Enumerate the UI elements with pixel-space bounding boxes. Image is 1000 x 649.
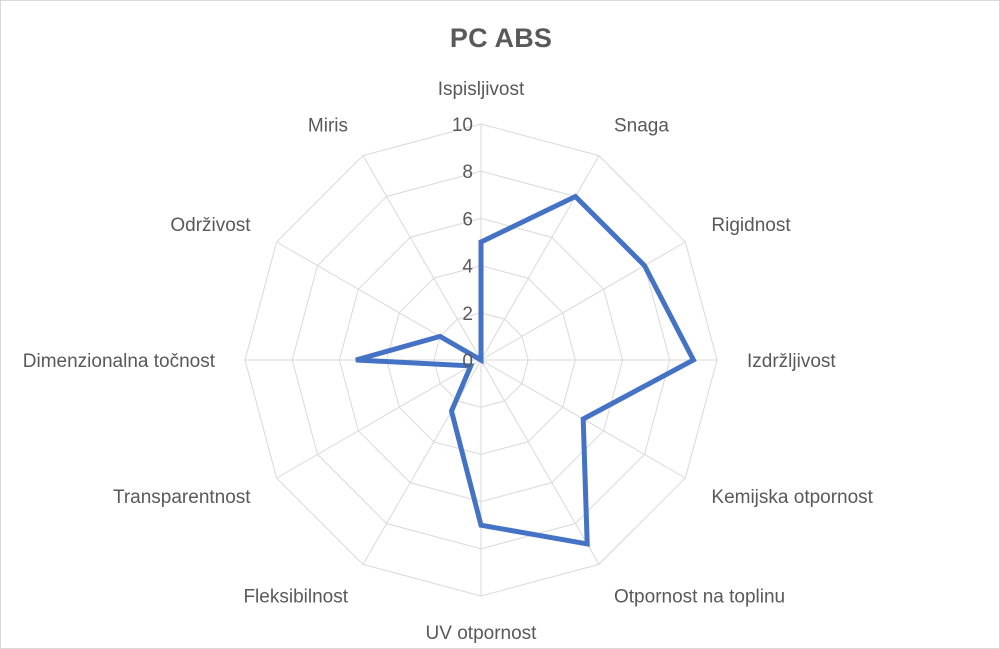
axis-label-5: Otpornost na toplinu [614, 587, 785, 608]
radar-series-layer [356, 196, 693, 543]
tick-label-2: 2 [462, 304, 473, 325]
axis-label-0: Ispisljivost [438, 79, 525, 100]
axis-label-11: Miris [308, 115, 348, 136]
axis-label-9: Dimenzionalna točnost [23, 351, 216, 372]
radar-tick-labels: 0246810 [452, 115, 474, 372]
grid-spoke-8 [277, 360, 481, 478]
tick-label-4: 4 [462, 257, 473, 278]
axis-label-6: UV otpornost [426, 623, 538, 644]
series-line-0 [356, 196, 693, 543]
tick-label-10: 10 [452, 115, 473, 136]
axis-label-10: Održivost [170, 215, 251, 236]
radar-chart-plot: 0246810 IspisljivostSnagaRigidnostIzdržl… [1, 1, 1000, 649]
axis-label-2: Rigidnost [711, 215, 791, 236]
grid-spoke-1 [481, 156, 599, 360]
axis-label-1: Snaga [614, 115, 669, 136]
tick-label-6: 6 [462, 209, 473, 230]
axis-label-3: Izdržljivost [747, 351, 836, 372]
radar-axis-labels: IspisljivostSnagaRigidnostIzdržljivostKe… [23, 79, 874, 644]
axis-label-8: Transparentnost [113, 487, 251, 508]
axis-label-7: Fleksibilnost [243, 587, 348, 608]
tick-label-0: 0 [462, 351, 473, 372]
axis-label-4: Kemijska otpornost [711, 487, 873, 508]
chart-frame: PC ABS 0246810 IspisljivostSnagaRigidnos… [0, 0, 1000, 649]
grid-spoke-2 [481, 242, 685, 360]
tick-label-8: 8 [462, 162, 473, 183]
